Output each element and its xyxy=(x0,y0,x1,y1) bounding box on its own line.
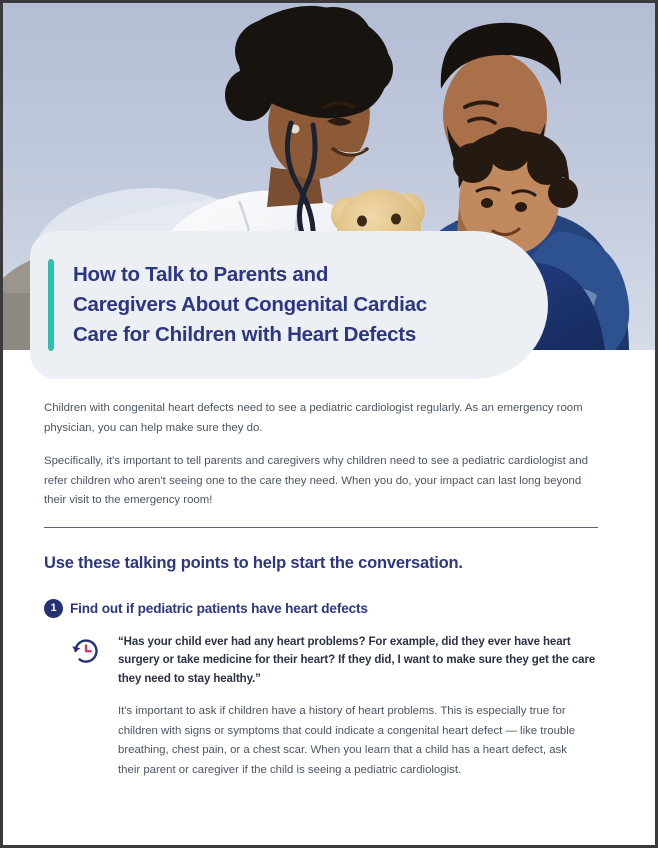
page-title-line-1: How to Talk to Parents and xyxy=(73,260,427,290)
page-title: How to Talk to Parents and Caregivers Ab… xyxy=(73,260,427,350)
intro-paragraph-1: Children with congenital heart defects n… xyxy=(44,399,598,438)
page-title-line-3: Care for Children with Heart Defects xyxy=(73,320,427,350)
talking-point-quote-row: “Has your child ever had any heart probl… xyxy=(44,633,598,688)
talking-point-1: 1 Find out if pediatric patients have he… xyxy=(44,599,598,781)
title-card: How to Talk to Parents and Caregivers Ab… xyxy=(30,231,548,379)
talking-point-explanation: It's important to ask if children have a… xyxy=(118,702,588,780)
talking-point-header: 1 Find out if pediatric patients have he… xyxy=(44,599,598,618)
section-divider xyxy=(44,527,598,528)
intro-paragraph-2: Specifically, it's important to tell par… xyxy=(44,452,598,511)
document-page: How to Talk to Parents and Caregivers Ab… xyxy=(0,0,658,848)
talking-point-title: Find out if pediatric patients have hear… xyxy=(70,601,368,616)
talking-point-number-badge: 1 xyxy=(44,599,63,618)
accent-bar xyxy=(48,259,54,351)
talking-point-quote: “Has your child ever had any heart probl… xyxy=(118,633,598,688)
intro-section: Children with congenital heart defects n… xyxy=(44,399,598,511)
history-clock-icon xyxy=(68,633,104,669)
section-heading: Use these talking points to help start t… xyxy=(44,554,463,573)
page-title-line-2: Caregivers About Congenital Cardiac xyxy=(73,290,427,320)
